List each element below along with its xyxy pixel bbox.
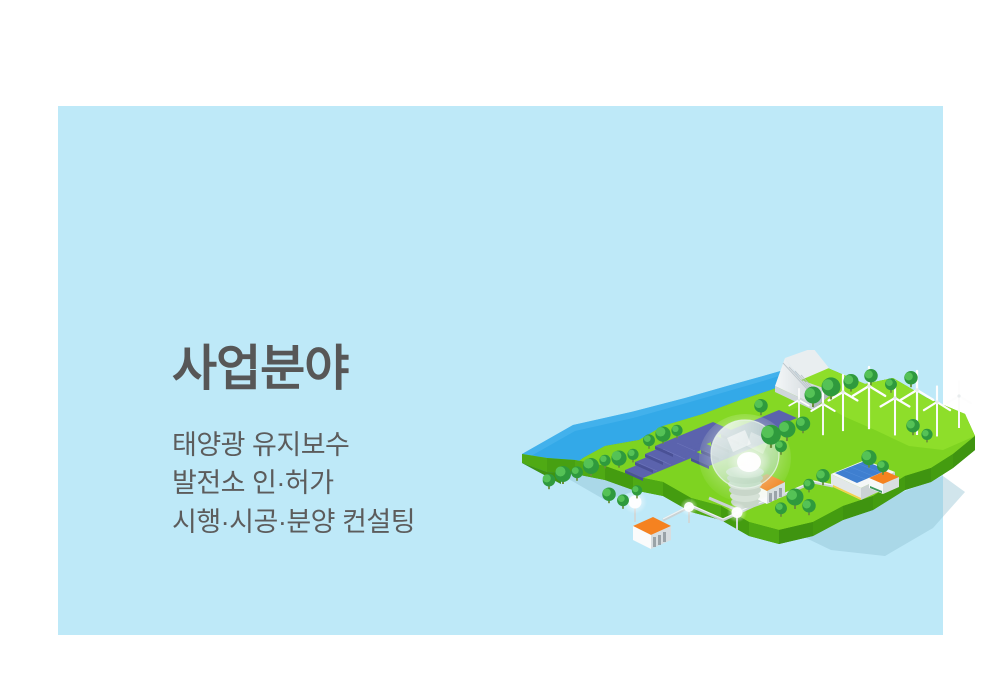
hero-panel: 사업분야 태양광 유지보수 발전소 인·허가 시행·시공·분양 컨설팅 — [58, 106, 943, 635]
substation-building-left — [633, 517, 671, 549]
renewable-energy-island-illustration — [513, 350, 983, 600]
page-title: 사업분야 — [172, 345, 532, 394]
service-list: 태양광 유지보수 발전소 인·허가 시행·시공·분양 컨설팅 — [172, 426, 532, 541]
service-list-item-3: 시행·시공·분양 컨설팅 — [172, 503, 532, 541]
service-list-item-2: 발전소 인·허가 — [172, 464, 532, 502]
service-list-item-1: 태양광 유지보수 — [172, 426, 532, 464]
slide-canvas: 사업분야 태양광 유지보수 발전소 인·허가 시행·시공·분양 컨설팅 — [0, 0, 1000, 691]
hero-text-block: 사업분야 태양광 유지보수 발전소 인·허가 시행·시공·분양 컨설팅 — [172, 345, 532, 541]
